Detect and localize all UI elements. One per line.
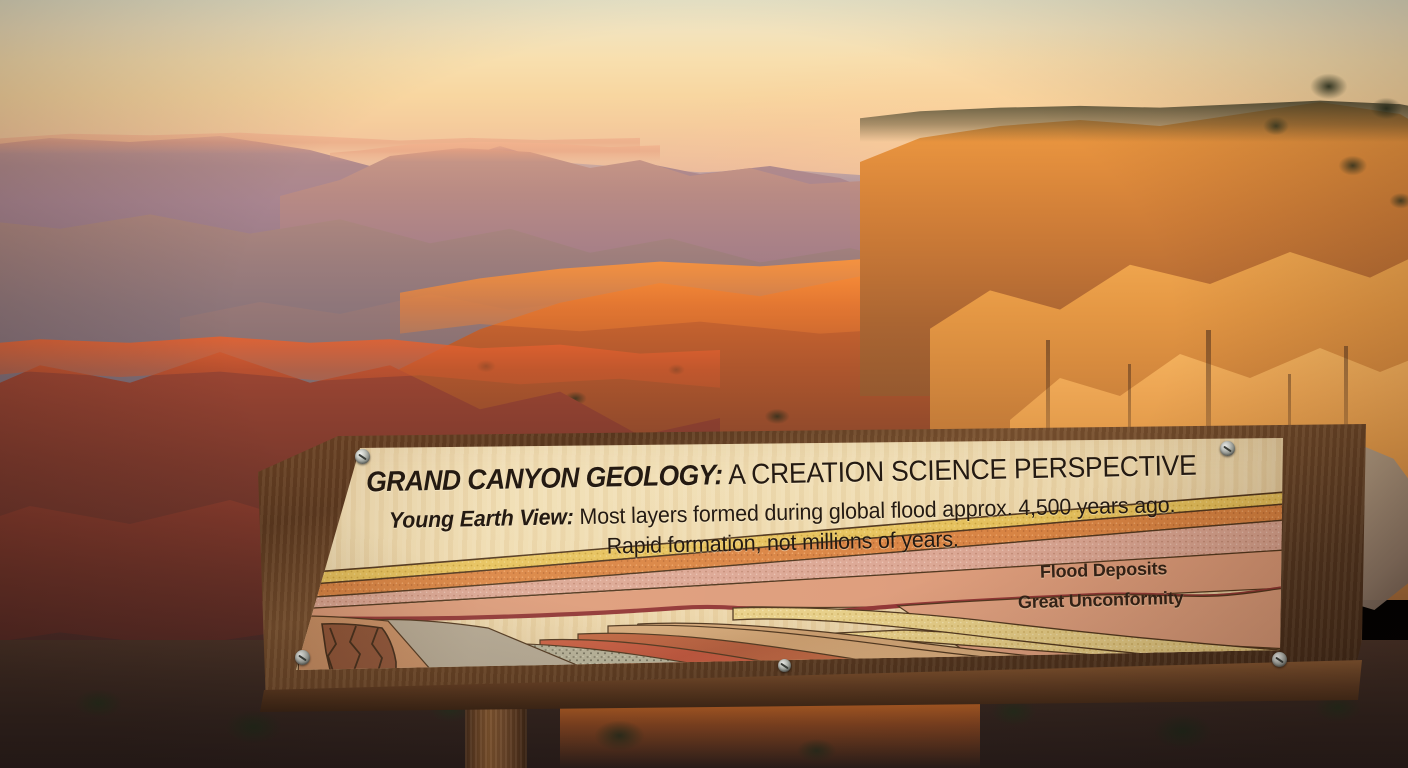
- screw-icon-top-right: [1220, 441, 1235, 456]
- screw-icon-bottom-right: [1272, 652, 1287, 667]
- label-flood-deposits: Flood Deposits: [1040, 558, 1168, 583]
- sign-panel-surface: [278, 438, 1288, 678]
- canyon-scene: Flood Deposits Great Unconformity GRAND …: [0, 0, 1408, 768]
- screw-icon-top-left: [355, 449, 370, 464]
- screw-icon-bottom-left: [295, 650, 310, 665]
- interpretive-sign[interactable]: Flood Deposits Great Unconformity GRAND …: [278, 438, 1288, 678]
- right-cliff-trees: [1180, 60, 1408, 280]
- screw-icon-bottom-center: [778, 659, 791, 672]
